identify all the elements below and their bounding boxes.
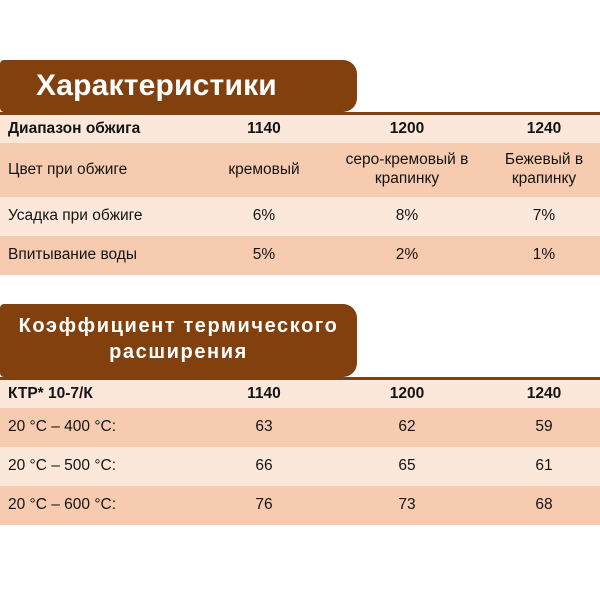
top-spacer	[0, 0, 600, 60]
row-cell: 68	[480, 486, 600, 525]
row-cell: 65	[334, 447, 480, 486]
section-title-thermal-expansion: Коэффициент термического расширения	[0, 304, 357, 377]
header-col-2: 1200	[334, 114, 480, 144]
thermal-expansion-table: КТР* 10-7/К 1140 1200 1240 20 °C – 400 °…	[0, 377, 600, 525]
section-spacer	[0, 275, 600, 304]
row-label: Усадка при обжиге	[0, 197, 194, 236]
section-title-text: Характеристики	[36, 69, 277, 103]
table-row: Цвет при обжиге кремовый серо-кремовый в…	[0, 143, 600, 197]
row-cell: 62	[334, 408, 480, 447]
row-cell: 6%	[194, 197, 334, 236]
table-row: Усадка при обжиге 6% 8% 7%	[0, 197, 600, 236]
row-cell: 1%	[480, 236, 600, 275]
row-cell: серо-кремовый в крапинку	[334, 143, 480, 197]
row-cell: 2%	[334, 236, 480, 275]
header-col-3: 1240	[480, 114, 600, 144]
header-label: КТР* 10-7/К	[0, 378, 194, 408]
section-title-characteristics: Характеристики	[0, 60, 357, 112]
table-row: 20 °C – 500 °C: 66 65 61	[0, 447, 600, 486]
row-label: 20 °C – 600 °C:	[0, 486, 194, 525]
row-cell: 76	[194, 486, 334, 525]
table-header-row: КТР* 10-7/К 1140 1200 1240	[0, 378, 600, 408]
header-col-3: 1240	[480, 378, 600, 408]
table-row: 20 °C – 400 °C: 63 62 59	[0, 408, 600, 447]
section-title-text-line-1: Коэффициент термического	[19, 313, 339, 339]
row-label: 20 °C – 500 °C:	[0, 447, 194, 486]
row-cell: 7%	[480, 197, 600, 236]
header-label: Диапазон обжига	[0, 114, 194, 144]
row-cell: 59	[480, 408, 600, 447]
header-col-1: 1140	[194, 114, 334, 144]
row-cell: 73	[334, 486, 480, 525]
table-header-row: Диапазон обжига 1140 1200 1240	[0, 114, 600, 144]
row-label: 20 °C – 400 °C:	[0, 408, 194, 447]
header-col-2: 1200	[334, 378, 480, 408]
bottom-spacer	[0, 525, 600, 610]
row-cell: 66	[194, 447, 334, 486]
row-label: Впитывание воды	[0, 236, 194, 275]
row-cell: Бежевый в крапинку	[480, 143, 600, 197]
row-cell: 61	[480, 447, 600, 486]
characteristics-table: Диапазон обжига 1140 1200 1240 Цвет при …	[0, 112, 600, 275]
row-label: Цвет при обжиге	[0, 143, 194, 197]
row-cell: кремовый	[194, 143, 334, 197]
table-row: Впитывание воды 5% 2% 1%	[0, 236, 600, 275]
specification-sheet: Характеристики Диапазон обжига 1140 1200…	[0, 0, 600, 600]
header-col-1: 1140	[194, 378, 334, 408]
row-cell: 5%	[194, 236, 334, 275]
section-title-text-line-2: расширения	[109, 339, 248, 365]
row-cell: 63	[194, 408, 334, 447]
table-row: 20 °C – 600 °C: 76 73 68	[0, 486, 600, 525]
row-cell: 8%	[334, 197, 480, 236]
